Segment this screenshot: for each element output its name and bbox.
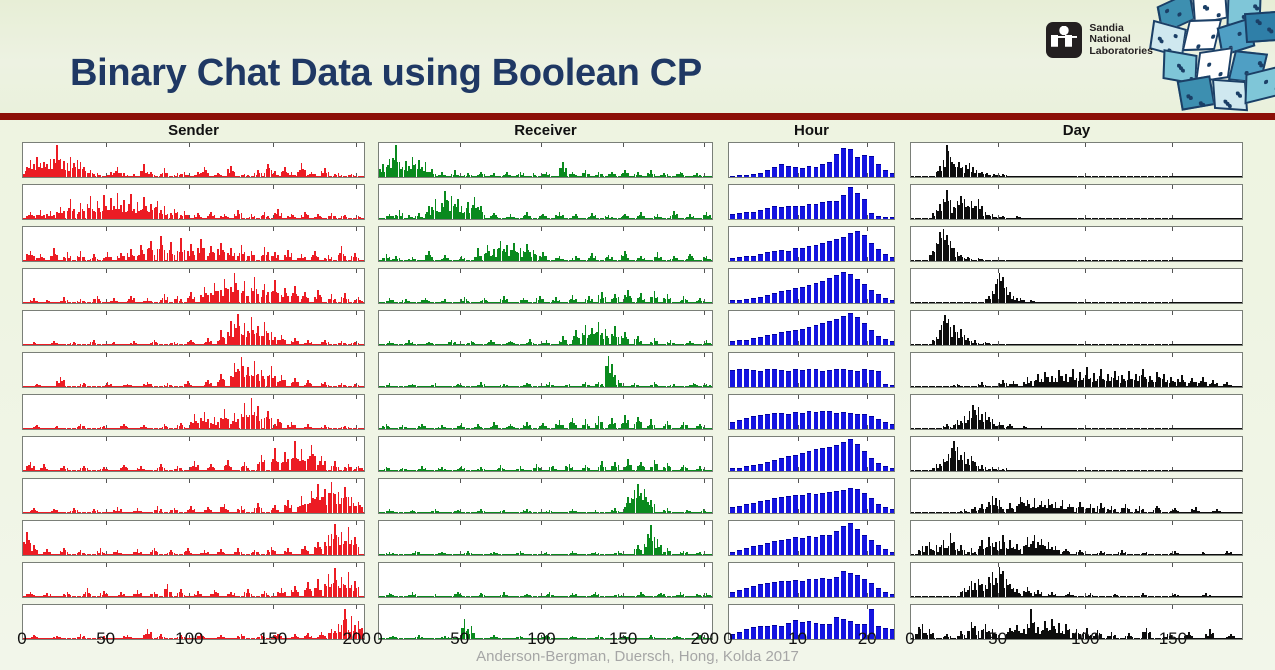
bars-receiver-6 [379, 353, 712, 387]
bars-receiver-7 [379, 395, 712, 429]
bars-sender-5 [23, 311, 364, 345]
sandia-logo-text: Sandia National Laboratories [1089, 23, 1153, 58]
factor-plot-hour-8 [728, 436, 895, 472]
sandia-thunderbird-icon [1046, 22, 1082, 58]
bars-day-5 [911, 311, 1242, 345]
factor-plot-hour-1 [728, 142, 895, 178]
footer-citation: Anderson-Bergman, Duersch, Hong, Kolda 2… [0, 648, 1275, 665]
bars-hour-4 [729, 269, 894, 303]
factor-plot-day-4 [910, 268, 1243, 304]
bars-sender-2 [23, 185, 364, 219]
factor-plot-receiver-10 [378, 520, 713, 556]
factor-plot-receiver-6 [378, 352, 713, 388]
column-header-day: Day [910, 122, 1243, 139]
bars-hour-5 [729, 311, 894, 345]
factor-plot-sender-4 [22, 268, 365, 304]
factor-plot-sender-5 [22, 310, 365, 346]
factor-plot-day-3 [910, 226, 1243, 262]
factor-plot-hour-2 [728, 184, 895, 220]
bars-hour-2 [729, 185, 894, 219]
factor-plot-day-8 [910, 436, 1243, 472]
bars-hour-9 [729, 479, 894, 513]
sandia-logo: Sandia National Laboratories [1046, 22, 1153, 58]
factor-plot-day-10 [910, 520, 1243, 556]
bars-receiver-5 [379, 311, 712, 345]
factor-plot-receiver-8 [378, 436, 713, 472]
factor-plot-day-11 [910, 562, 1243, 598]
factor-plot-hour-4 [728, 268, 895, 304]
column-header-sender: Sender [22, 122, 365, 139]
panel-column-hour [728, 142, 895, 646]
factor-plot-sender-6 [22, 352, 365, 388]
factor-plot-hour-5 [728, 310, 895, 346]
factor-plot-hour-7 [728, 394, 895, 430]
x-tick-label: 0 [905, 629, 914, 649]
bars-receiver-4 [379, 269, 712, 303]
panel-column-sender [22, 142, 365, 646]
factor-plot-day-6 [910, 352, 1243, 388]
bars-day-6 [911, 353, 1242, 387]
bars-day-8 [911, 437, 1242, 471]
bars-day-3 [911, 227, 1242, 261]
factor-plot-hour-9 [728, 478, 895, 514]
bars-hour-6 [729, 353, 894, 387]
bars-sender-11 [23, 563, 364, 597]
panel-column-receiver [378, 142, 713, 646]
bars-sender-1 [23, 143, 364, 177]
bars-sender-9 [23, 479, 364, 513]
bars-day-11 [911, 563, 1242, 597]
factor-plot-day-2 [910, 184, 1243, 220]
factor-plot-sender-10 [22, 520, 365, 556]
factor-plot-receiver-1 [378, 142, 713, 178]
factor-plot-day-9 [910, 478, 1243, 514]
factor-plot-day-1 [910, 142, 1243, 178]
factor-plot-sender-1 [22, 142, 365, 178]
bars-sender-10 [23, 521, 364, 555]
bars-receiver-11 [379, 563, 712, 597]
x-tick-label: 100 [1071, 629, 1099, 649]
bars-hour-11 [729, 563, 894, 597]
factor-plot-receiver-4 [378, 268, 713, 304]
bars-receiver-10 [379, 521, 712, 555]
factor-plot-day-5 [910, 310, 1243, 346]
bars-sender-8 [23, 437, 364, 471]
bars-hour-7 [729, 395, 894, 429]
factor-plot-receiver-7 [378, 394, 713, 430]
x-tick-label: 150 [1159, 629, 1187, 649]
factor-plot-sender-9 [22, 478, 365, 514]
factor-plot-day-7 [910, 394, 1243, 430]
factor-plot-hour-6 [728, 352, 895, 388]
bars-sender-7 [23, 395, 364, 429]
factor-plot-receiver-2 [378, 184, 713, 220]
factor-plot-receiver-5 [378, 310, 713, 346]
factor-plot-sender-7 [22, 394, 365, 430]
bars-receiver-3 [379, 227, 712, 261]
factor-plot-receiver-3 [378, 226, 713, 262]
bars-hour-10 [729, 521, 894, 555]
chart-grid: Sender050100150200Receiver050100150200Ho… [0, 120, 1275, 670]
bars-sender-3 [23, 227, 364, 261]
factor-plot-sender-2 [22, 184, 365, 220]
factor-plot-receiver-11 [378, 562, 713, 598]
bars-hour-3 [729, 227, 894, 261]
bars-sender-4 [23, 269, 364, 303]
bars-day-7 [911, 395, 1242, 429]
bars-receiver-8 [379, 437, 712, 471]
bars-day-1 [911, 143, 1242, 177]
factor-plot-hour-3 [728, 226, 895, 262]
factor-plot-sender-3 [22, 226, 365, 262]
page-title: Binary Chat Data using Boolean CP [70, 52, 702, 95]
bars-hour-1 [729, 143, 894, 177]
sandia-logo-line3: Laboratories [1089, 46, 1153, 58]
factor-plot-sender-8 [22, 436, 365, 472]
panel-column-day [910, 142, 1243, 646]
bars-receiver-2 [379, 185, 712, 219]
bars-receiver-9 [379, 479, 712, 513]
bars-day-2 [911, 185, 1242, 219]
factor-plot-hour-10 [728, 520, 895, 556]
bars-day-10 [911, 521, 1242, 555]
factor-plot-receiver-9 [378, 478, 713, 514]
column-header-receiver: Receiver [378, 122, 713, 139]
factor-plot-hour-11 [728, 562, 895, 598]
slide-header: Binary Chat Data using Boolean CP Sandia… [0, 0, 1275, 113]
x-tick-label: 50 [988, 629, 1007, 649]
bars-day-4 [911, 269, 1242, 303]
bars-sender-6 [23, 353, 364, 387]
slide-page: Binary Chat Data using Boolean CP Sandia… [0, 0, 1275, 670]
factor-plot-sender-11 [22, 562, 365, 598]
bars-hour-8 [729, 437, 894, 471]
sandia-cube-pattern-icon [1149, 0, 1275, 112]
bars-day-9 [911, 479, 1242, 513]
header-divider [0, 113, 1275, 120]
column-header-hour: Hour [728, 122, 895, 139]
bars-receiver-1 [379, 143, 712, 177]
